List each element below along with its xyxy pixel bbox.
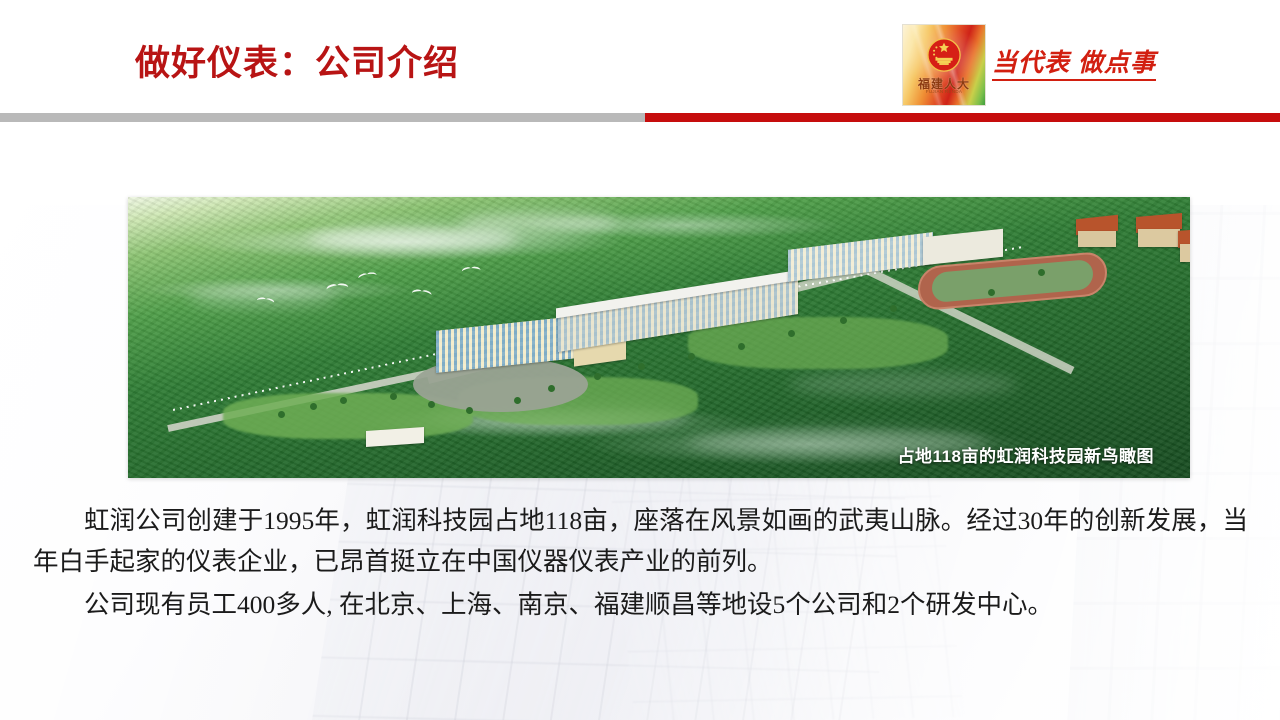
slide-canvas: 做好仪表：公司介绍 福建人大 FUJIAN RENDA 当代表 做点事 bbox=[0, 0, 1280, 720]
bird-icon bbox=[357, 268, 377, 279]
bird-icon bbox=[257, 294, 275, 304]
logo-name-en: FUJIAN RENDA bbox=[903, 89, 985, 94]
tree bbox=[340, 397, 347, 404]
campus-aerial-photo: 占地118亩的虹润科技园新鸟瞰图 bbox=[128, 197, 1190, 478]
page-title: 做好仪表：公司介绍 bbox=[135, 46, 459, 81]
mist-blob bbox=[788, 372, 1018, 396]
slide-header: 做好仪表：公司介绍 福建人大 FUJIAN RENDA 当代表 做点事 bbox=[0, 0, 1280, 112]
photo-caption: 占地118亩的虹润科技园新鸟瞰图 bbox=[898, 442, 1154, 467]
sports-field-turf bbox=[932, 259, 1093, 303]
tree bbox=[1038, 269, 1045, 276]
mist-blob bbox=[458, 213, 618, 233]
tree bbox=[788, 330, 795, 337]
tree bbox=[594, 373, 601, 380]
tree bbox=[514, 397, 521, 404]
bird-icon bbox=[326, 279, 349, 290]
tree bbox=[548, 385, 555, 392]
tree bbox=[840, 317, 847, 324]
villa-body bbox=[1138, 229, 1180, 247]
paragraph-1: 虹润公司创建于1995年，虹润科技园占地118亩，座落在风景如画的武夷山脉。经过… bbox=[33, 500, 1248, 582]
paragraph-2: 公司现有员工400多人, 在北京、上海、南京、福建顺昌等地设5个公司和2个研发中… bbox=[33, 584, 1248, 625]
bird-icon bbox=[461, 263, 480, 272]
tree bbox=[428, 401, 435, 408]
tree bbox=[688, 353, 695, 360]
tree bbox=[638, 363, 645, 370]
header-slogan: 当代表 做点事 bbox=[992, 51, 1156, 81]
tree bbox=[390, 393, 397, 400]
fujian-renda-logo: 福建人大 FUJIAN RENDA bbox=[902, 24, 986, 106]
national-emblem-icon bbox=[925, 37, 963, 73]
villa-body bbox=[1078, 231, 1116, 247]
tree bbox=[310, 403, 317, 410]
bird-icon bbox=[412, 285, 433, 295]
body-text-block: 虹润公司创建于1995年，虹润科技园占地118亩，座落在风景如画的武夷山脉。经过… bbox=[33, 500, 1248, 625]
tree bbox=[738, 343, 745, 350]
villa-body bbox=[1180, 244, 1190, 262]
divider-segment-gray bbox=[0, 113, 645, 122]
tree bbox=[890, 305, 897, 312]
header-divider-bar bbox=[0, 113, 1280, 122]
tree bbox=[466, 407, 473, 414]
tree bbox=[988, 289, 995, 296]
divider-segment-red bbox=[645, 113, 1280, 122]
tree bbox=[278, 411, 285, 418]
